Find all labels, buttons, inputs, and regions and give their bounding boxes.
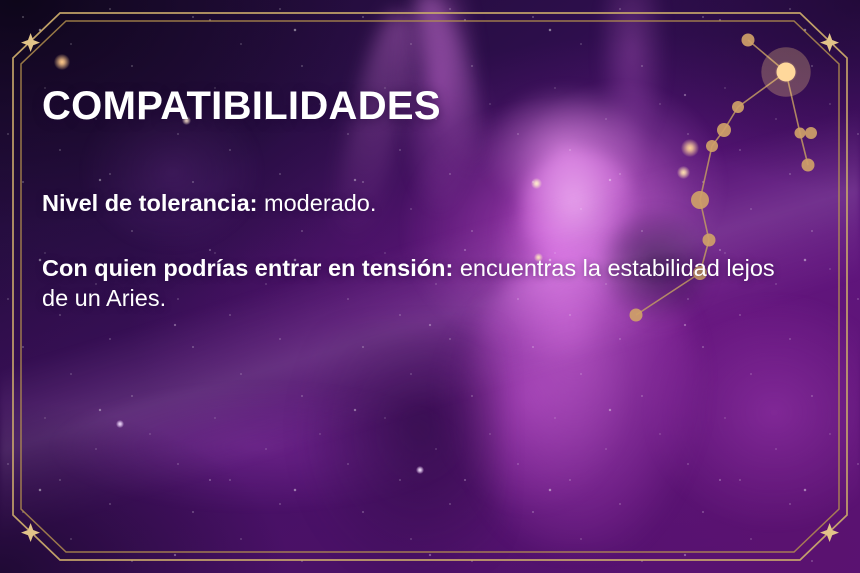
entry-tolerance: Nivel de tolerancia: moderado. [42, 188, 802, 219]
entry-tolerance-label: Nivel de tolerancia: [42, 190, 258, 216]
entry-tension: Con quien podrías entrar en tensión: enc… [42, 253, 802, 314]
page-title: COMPATIBILIDADES [42, 86, 814, 126]
card-content: COMPATIBILIDADES Nivel de tolerancia: mo… [42, 86, 814, 314]
entry-tension-label: Con quien podrías entrar en tensión: [42, 255, 453, 281]
compatibility-card: COMPATIBILIDADES Nivel de tolerancia: mo… [0, 0, 860, 573]
entry-tolerance-value: moderado. [264, 190, 376, 216]
